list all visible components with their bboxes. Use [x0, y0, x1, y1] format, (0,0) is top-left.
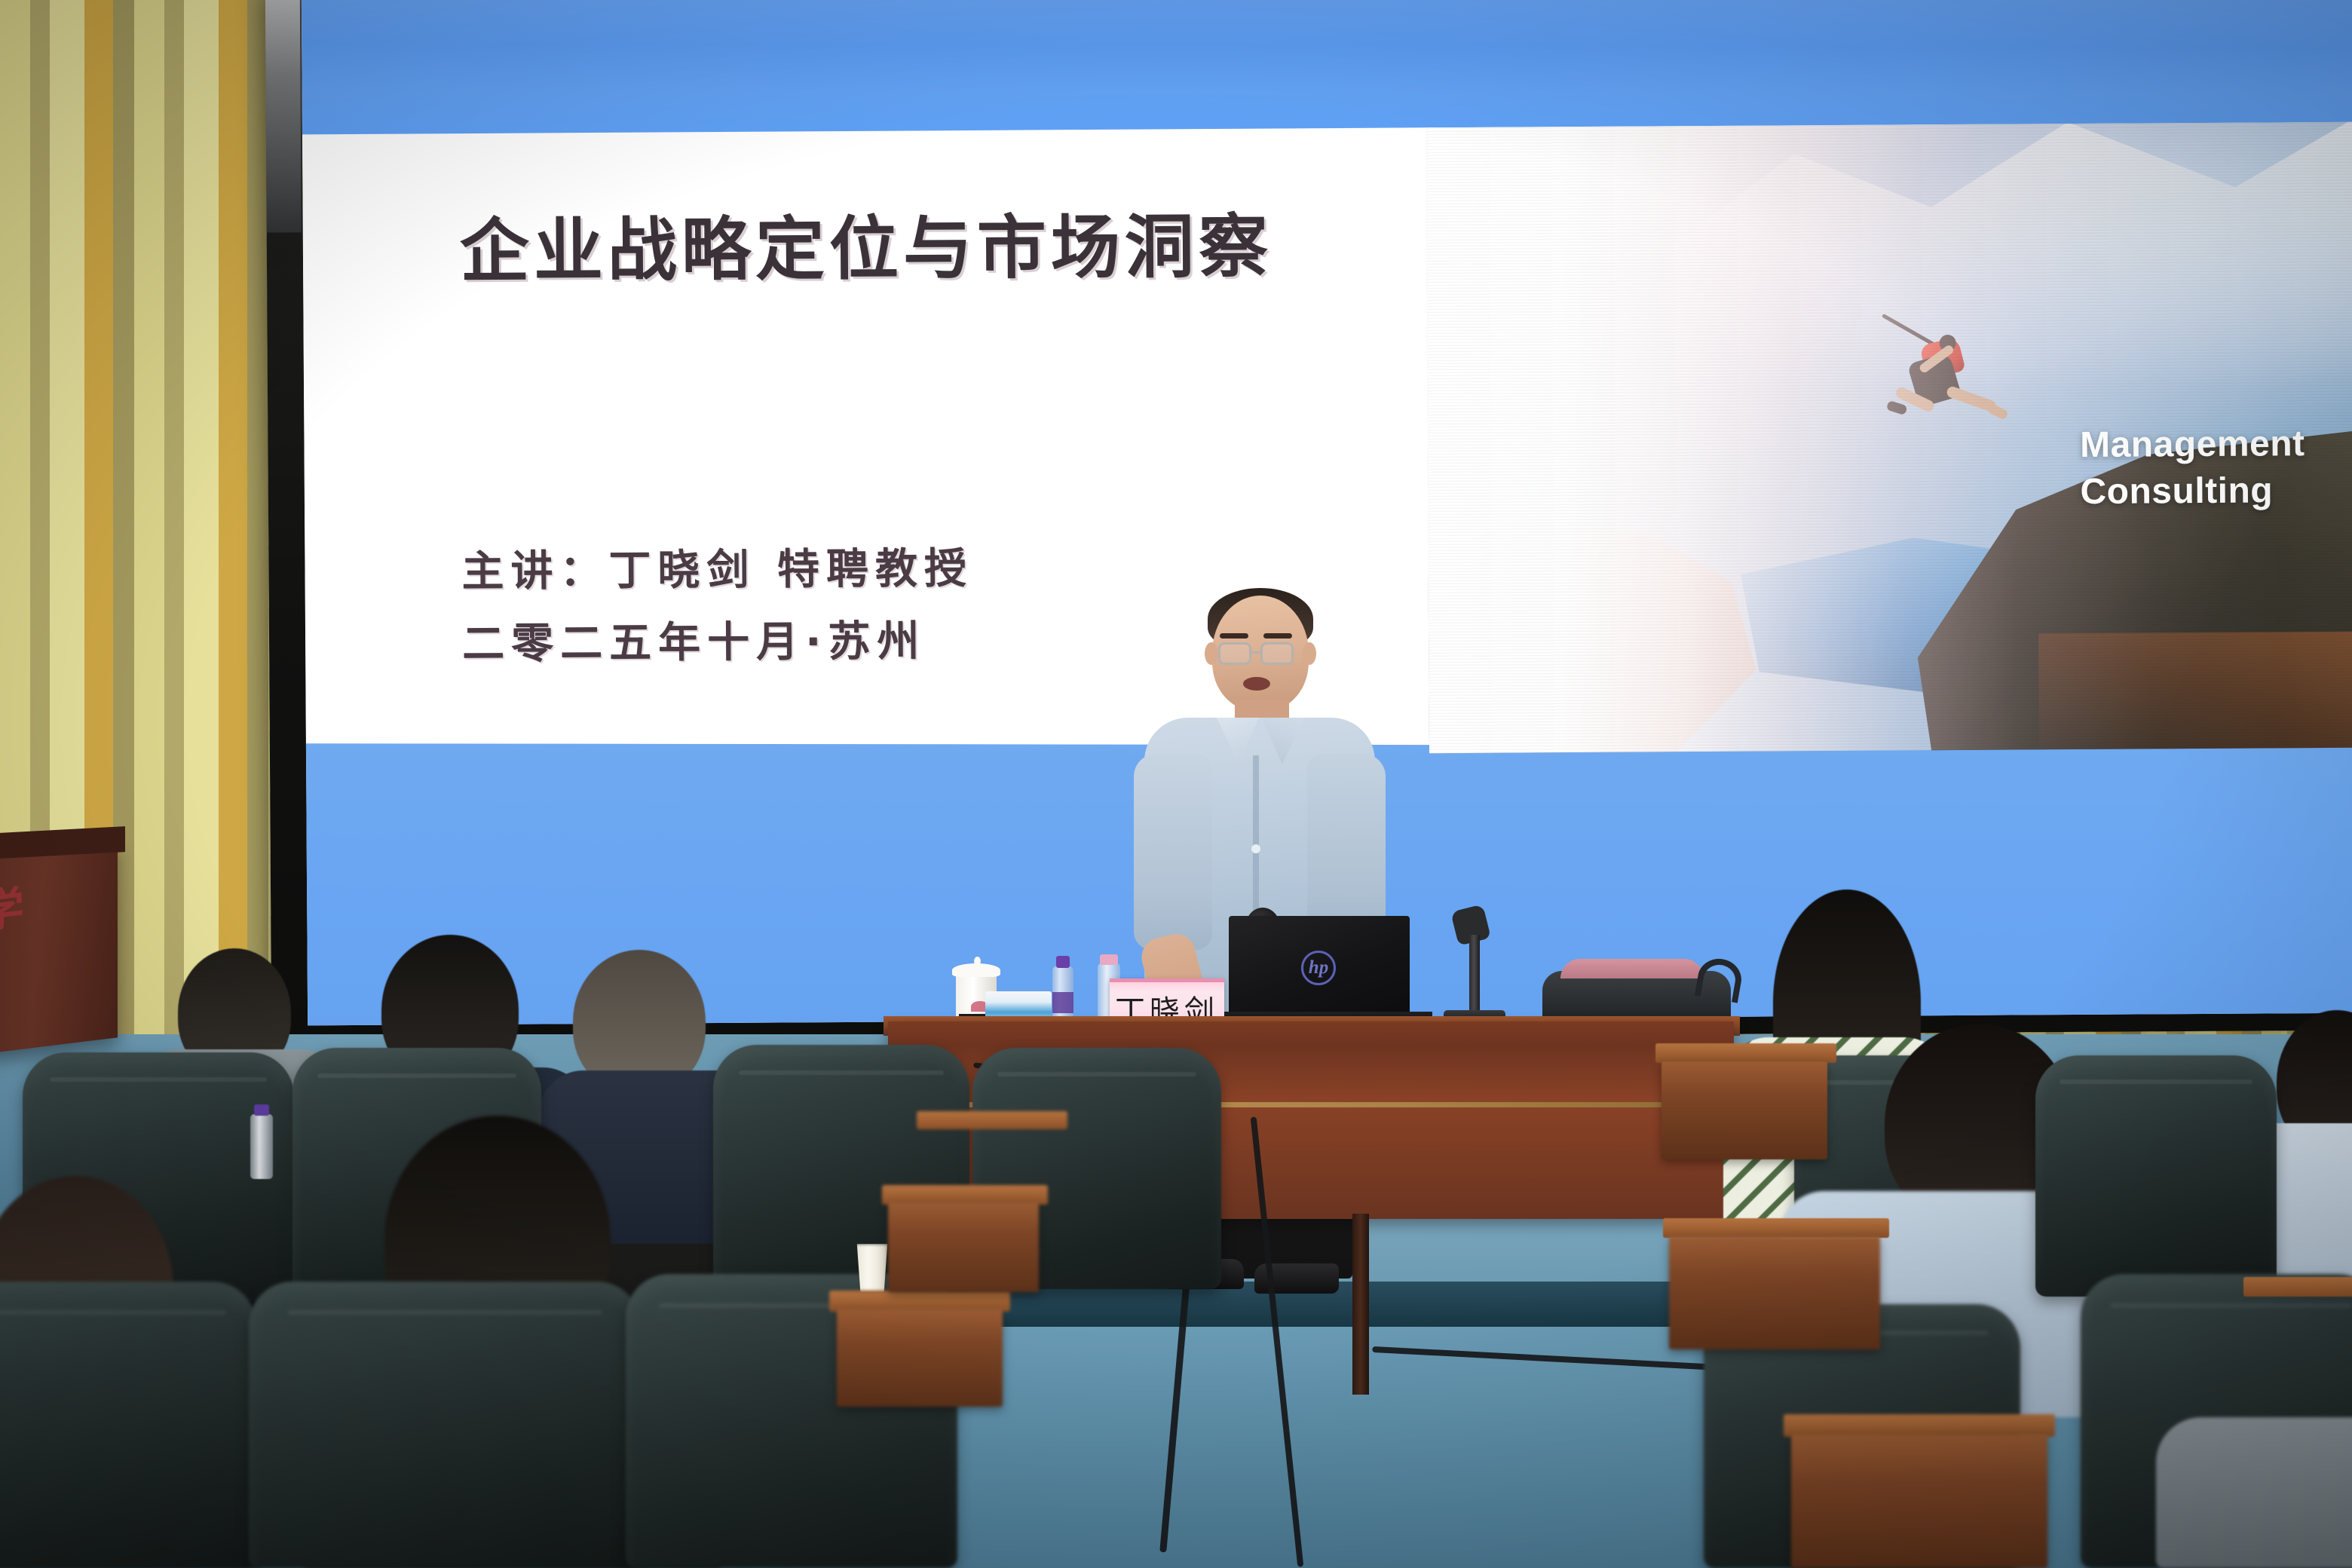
glasses-lens-left	[1218, 642, 1251, 665]
audience-shoulders-right-4	[2156, 1417, 2352, 1568]
slide-english-line-1: Management	[2080, 421, 2305, 469]
audience-desk-top-right-2	[1663, 1218, 1889, 1238]
presenter-eyebrow-left	[1220, 633, 1248, 639]
audience-desk-top-right-4	[2243, 1277, 2352, 1297]
desk-leg-right	[1352, 1214, 1369, 1395]
shirt-button-1	[1251, 844, 1260, 853]
audience-desk-top-3	[917, 1111, 1067, 1129]
audience-seat-near-left[interactable]	[0, 1282, 256, 1568]
presenter-ear-left	[1205, 642, 1218, 665]
audience-desk-right-1	[1661, 1061, 1827, 1159]
desk-microphone-stem	[1469, 935, 1480, 1016]
slide-subtitle: 主讲：丁晓剑 特聘教授 二零二五年十月·苏州	[461, 533, 974, 681]
audience-desk-top-right-1	[1655, 1043, 1836, 1063]
audience-water-bottle-1	[250, 1114, 273, 1179]
paper-cup	[855, 1244, 890, 1292]
lectern-emblem: 学	[0, 869, 38, 931]
lectern: 学	[0, 841, 118, 1055]
hp-logo-icon: hp	[1301, 951, 1336, 985]
glasses-bridge	[1251, 651, 1262, 654]
slide-title: 企业战略定位与市场洞察	[459, 191, 1272, 296]
audience-seat-right-2[interactable]	[2035, 1055, 2277, 1297]
audience-desk-1	[837, 1309, 1003, 1407]
audience-desk-right-2	[1669, 1236, 1880, 1349]
presenter-ear-right	[1303, 642, 1316, 665]
shirt-sleeve-left	[1134, 754, 1212, 950]
glasses-lens-right	[1260, 642, 1294, 665]
audience-desk-right-3	[1791, 1434, 2047, 1568]
lecture-hall-scene: 企业战略定位与市场洞察 主讲：丁晓剑 特聘教授 二零二五年十月·苏州 Manag…	[0, 0, 2352, 1568]
laptop[interactable]: hp	[1229, 916, 1410, 1014]
audience-seat-near-center[interactable]	[249, 1282, 641, 1568]
slide-english-line-2: Consulting	[2080, 467, 2305, 516]
slide-subtitle-line-2: 二零二五年十月·苏州	[462, 605, 974, 681]
slide-subtitle-line-1: 主讲：丁晓剑 特聘教授	[461, 533, 973, 608]
slide-top-band	[302, 0, 2352, 141]
presenter-mouth	[1243, 677, 1270, 691]
presenter-eyebrow-right	[1263, 633, 1292, 639]
audience-desk-2	[888, 1202, 1039, 1292]
slide-english-label: Management Consulting	[2080, 421, 2305, 516]
